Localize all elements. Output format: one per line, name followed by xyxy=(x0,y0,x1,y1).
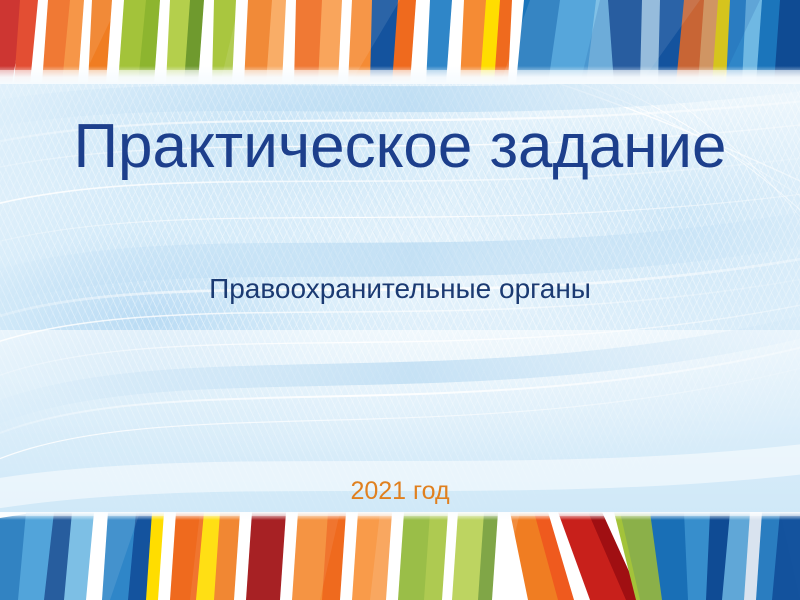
top-decorative-band xyxy=(0,0,800,84)
slide-subtitle: Правоохранительные органы xyxy=(0,272,800,306)
presentation-slide: Практическое задание Правоохранительные … xyxy=(0,0,800,600)
bottom-decorative-band xyxy=(0,512,800,600)
slide-title: Практическое задание xyxy=(0,110,800,184)
slide-year: 2021 год xyxy=(0,476,800,506)
